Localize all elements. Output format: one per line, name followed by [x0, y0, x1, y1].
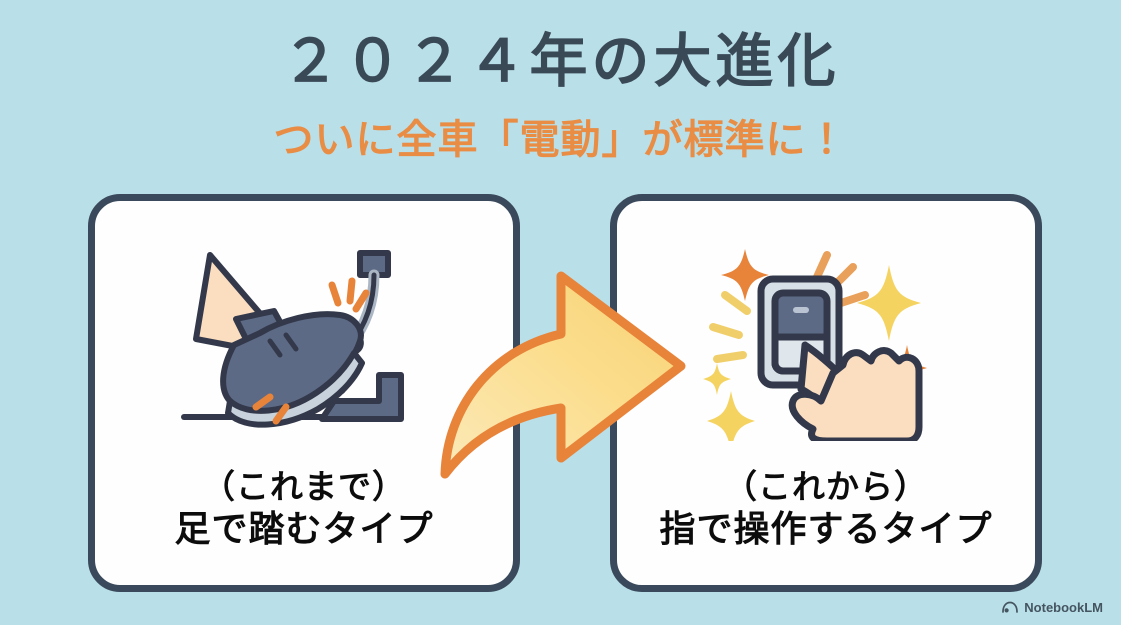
poster-root: ２０２４年の大進化 ついに全車「電動」が標準に！	[0, 0, 1121, 625]
card-before-caption-line2: 足で踏むタイプ	[95, 507, 513, 551]
foot-pressing-pedal-icon	[174, 241, 434, 441]
sparkle-rays-left-icon	[713, 295, 747, 359]
page-title: ２０２４年の大進化	[0, 30, 1121, 94]
notebooklm-watermark: NotebookLM	[1002, 600, 1103, 615]
card-after-caption: （これから） 指で操作するタイプ	[617, 467, 1035, 551]
page-subtitle: ついに全車「電動」が標準に！	[0, 118, 1121, 162]
card-after: （これから） 指で操作するタイプ	[610, 194, 1042, 592]
card-after-illustration	[617, 235, 1035, 447]
card-after-caption-line1: （これから）	[617, 467, 1035, 507]
card-after-caption-line2: 指で操作するタイプ	[617, 507, 1035, 551]
card-before: （これまで） 足で踏むタイプ	[88, 194, 520, 592]
card-before-caption: （これまで） 足で踏むタイプ	[95, 467, 513, 551]
card-before-illustration	[95, 235, 513, 447]
card-before-caption-line1: （これまで）	[95, 467, 513, 507]
finger-pressing-switch-icon	[701, 241, 951, 441]
notebooklm-icon	[1002, 601, 1018, 614]
notebooklm-watermark-label: NotebookLM	[1024, 600, 1103, 615]
